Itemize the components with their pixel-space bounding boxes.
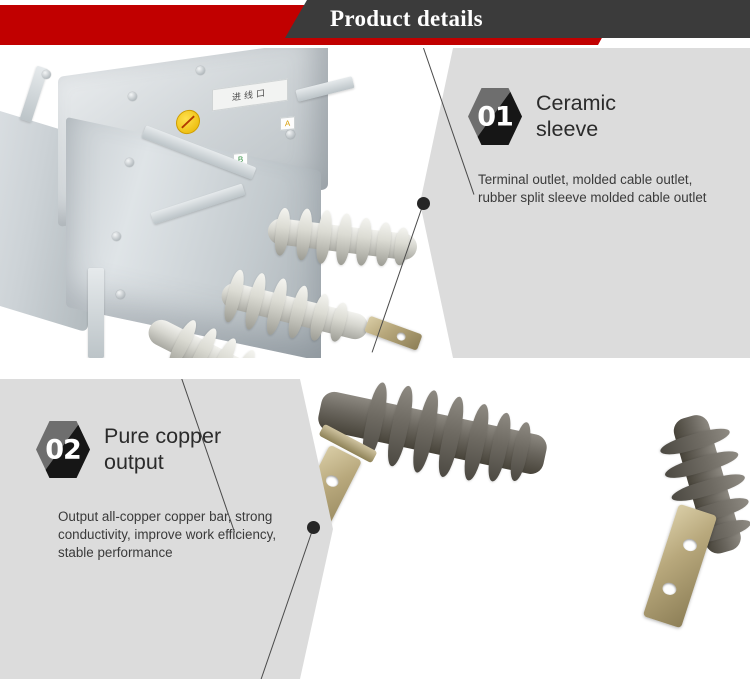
- bolt: [125, 158, 134, 167]
- detail-description-02: Output all-copper copper bar, strong con…: [58, 508, 308, 562]
- hex-badge-01: 01: [468, 88, 522, 145]
- hex-badge-number-01: 01: [468, 101, 522, 132]
- phase-tag-a: A: [280, 116, 295, 130]
- bolt: [128, 92, 137, 101]
- pointer-dot-01: [417, 197, 430, 210]
- detail-title-02: Pure copper output: [104, 421, 221, 475]
- bolt: [112, 232, 121, 241]
- bolt: [42, 70, 51, 79]
- page-header-banner: Product details: [0, 0, 750, 48]
- product-photo-copper-output: [310, 379, 750, 679]
- detail-heading-row-01: 01 Ceramic sleeve: [468, 88, 730, 145]
- detail-panel-01: 进线口 A B: [0, 48, 750, 358]
- pointer-dot-02: [307, 521, 320, 534]
- hex-badge-number-02: 02: [36, 434, 90, 465]
- detail-heading-row-02: 02 Pure copper output: [36, 421, 308, 478]
- detail-content-01: 01 Ceramic sleeve Terminal outlet, molde…: [468, 88, 730, 207]
- product-photo-ceramic-sleeve: 进线口 A B: [0, 48, 430, 358]
- detail-description-01: Terminal outlet, molded cable outlet, ru…: [478, 171, 730, 207]
- bolt: [116, 290, 125, 299]
- detail-content-02: 02 Pure copper output Output all-copper …: [36, 421, 308, 562]
- bolt: [286, 130, 295, 139]
- detail-title-01: Ceramic sleeve: [536, 88, 616, 142]
- hex-badge-02: 02: [36, 421, 90, 478]
- bolt: [196, 66, 205, 75]
- mounting-foot: [88, 268, 104, 358]
- detail-panel-02: 02 Pure copper output Output all-copper …: [0, 379, 750, 679]
- page-title: Product details: [330, 4, 483, 34]
